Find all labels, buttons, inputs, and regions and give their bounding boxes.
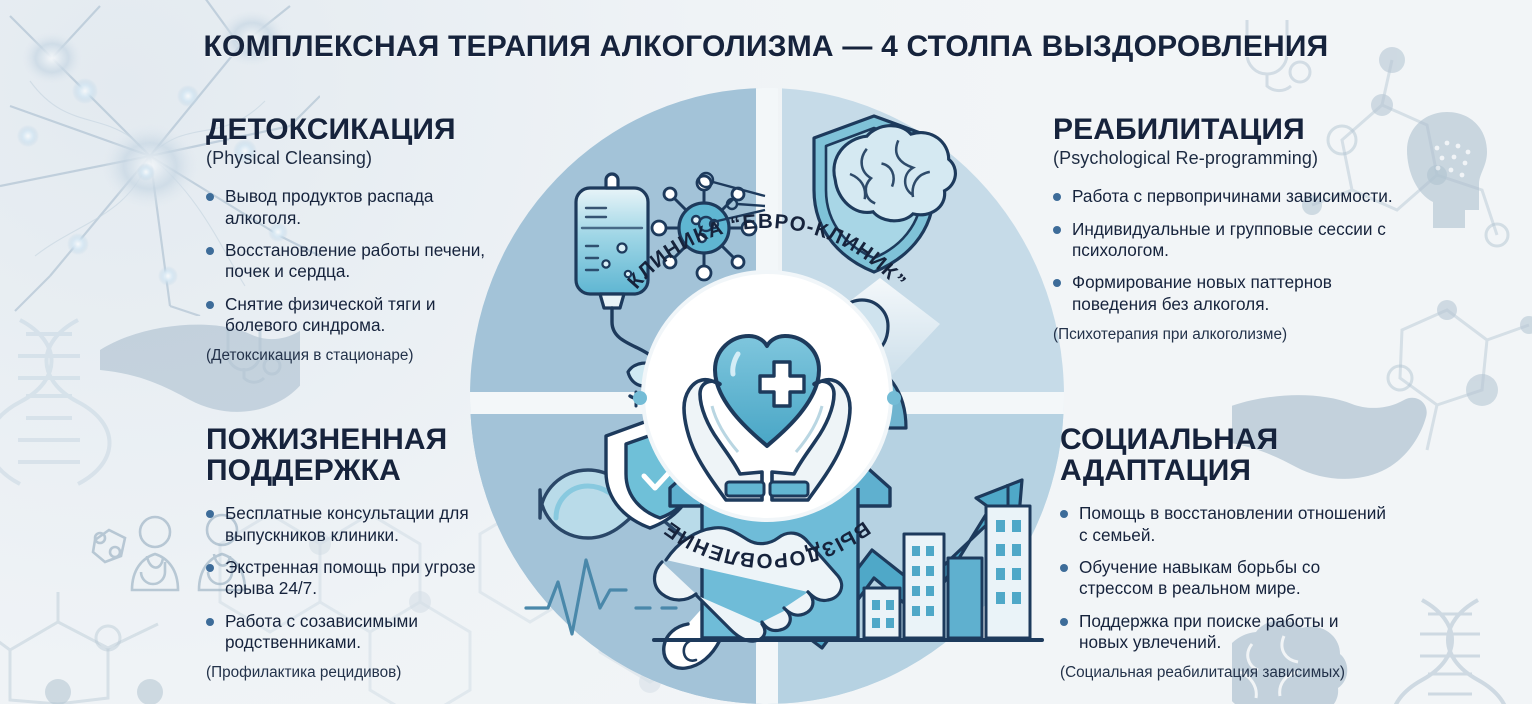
- detox-subtitle: (Physical Cleansing): [206, 148, 506, 169]
- detox-heading: ДЕТОКСИКАЦИЯ: [206, 114, 506, 145]
- detox-note: (Детоксикация в стационаре): [206, 347, 506, 365]
- rehab-note: (Психотерапия при алкоголизме): [1053, 326, 1393, 344]
- list-item: Обучение навыкам борьбы со стрессом в ре…: [1060, 557, 1390, 600]
- support-bullet-list: Бесплатные консультации для выпускников …: [206, 503, 526, 653]
- list-item: Бесплатные консультации для выпускников …: [206, 503, 526, 546]
- list-item: Работа с созависимыми родственниками.: [206, 611, 526, 654]
- list-item: Поддержка при поиске работы и новых увле…: [1060, 611, 1390, 654]
- support-note: (Профилактика рецидивов): [206, 664, 526, 682]
- pillar-detox: ДЕТОКСИКАЦИЯ (Physical Cleansing) Вывод …: [206, 114, 506, 365]
- list-item: Восстановление работы печени, почек и се…: [206, 240, 506, 283]
- list-item: Снятие физической тяги и болевого синдро…: [206, 294, 506, 337]
- list-item: Помощь в восстановлении отношений с семь…: [1060, 503, 1390, 546]
- rehab-subtitle: (Psychological Re-programming): [1053, 148, 1393, 169]
- pillar-social: СОЦИАЛЬНАЯ АДАПТАЦИЯ Помощь в восстановл…: [1060, 424, 1390, 682]
- list-item: Работа с первопричинами зависимости.: [1053, 186, 1393, 207]
- social-note: (Социальная реабилитация зависимых): [1060, 664, 1390, 682]
- ring-dot-right: [887, 391, 901, 405]
- social-bullet-list: Помощь в восстановлении отношений с семь…: [1060, 503, 1390, 653]
- social-heading: СОЦИАЛЬНАЯ АДАПТАЦИЯ: [1060, 424, 1390, 486]
- recovery-wheel: КЛИНИКА “ЕВРО-КЛИНИК” ВЫЗДОРОВЛЕНИЕ: [470, 88, 1064, 704]
- list-item: Индивидуальные и групповые сессии с псих…: [1053, 219, 1393, 262]
- pillar-support: ПОЖИЗНЕННАЯ ПОДДЕРЖКА Бесплатные консуль…: [206, 424, 526, 682]
- rehab-heading: РЕАБИЛИТАЦИЯ: [1053, 114, 1393, 145]
- detox-bullet-list: Вывод продуктов распада алкоголя. Восста…: [206, 186, 506, 336]
- ring-dot-left: [633, 391, 647, 405]
- rehab-bullet-list: Работа с первопричинами зависимости. Инд…: [1053, 186, 1393, 315]
- pillar-rehab: РЕАБИЛИТАЦИЯ (Psychological Re-programmi…: [1053, 114, 1393, 344]
- list-item: Формирование новых паттернов поведения б…: [1053, 272, 1393, 315]
- page-title: КОМПЛЕКСНАЯ ТЕРАПИЯ АЛКОГОЛИЗМА — 4 СТОЛ…: [0, 30, 1532, 64]
- list-item: Экстренная помощь при угрозе срыва 24/7.: [206, 557, 526, 600]
- support-heading: ПОЖИЗНЕННАЯ ПОДДЕРЖКА: [206, 424, 526, 486]
- list-item: Вывод продуктов распада алкоголя.: [206, 186, 506, 229]
